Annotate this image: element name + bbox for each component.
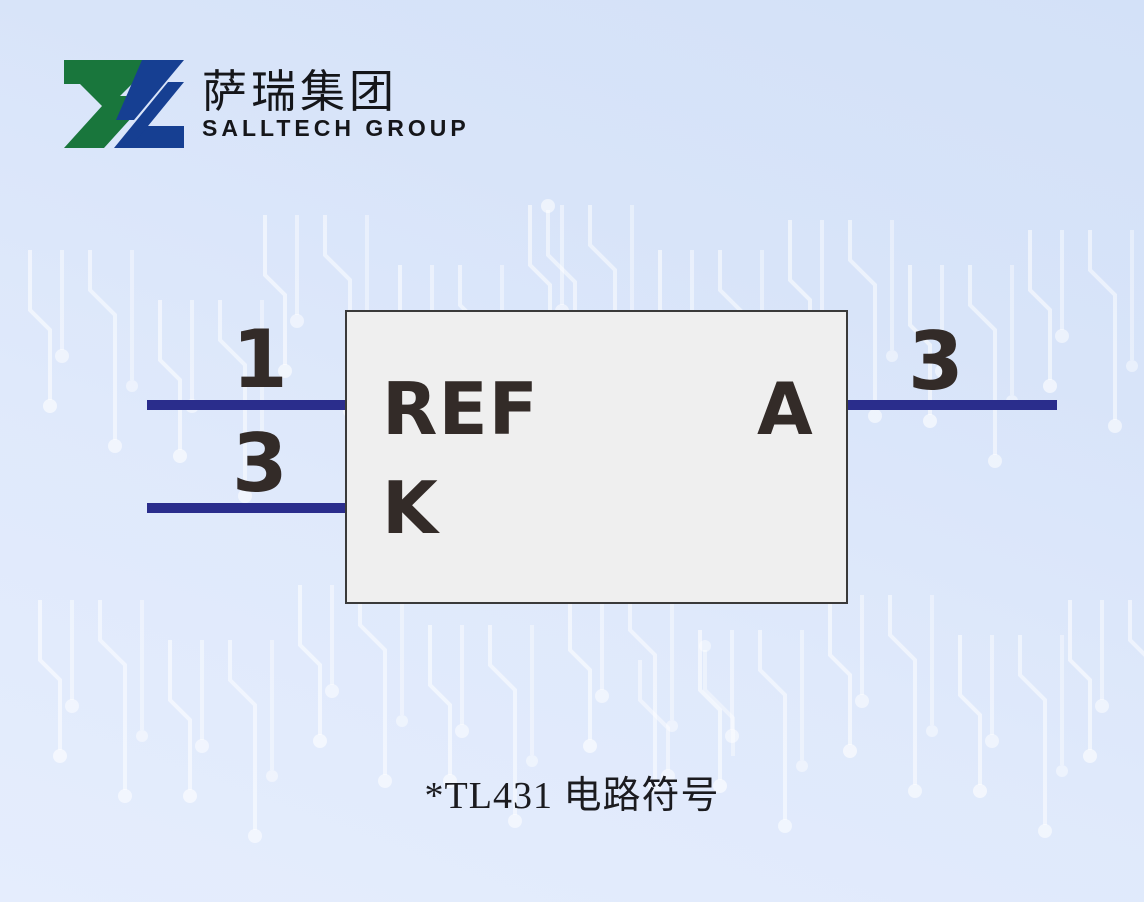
pin-number-top-left: 1	[232, 320, 288, 400]
figure-caption: *TL431 电路符号	[0, 764, 1144, 819]
pin-label-a: A	[757, 373, 813, 445]
slide-canvas: 萨瑞集团 SALLTECH GROUP REF K A 1 3 3 *TL431…	[0, 0, 1144, 902]
pin-label-ref: REF	[382, 373, 539, 445]
component-body-box	[345, 310, 848, 604]
pin-label-k: K	[382, 472, 438, 544]
pin-number-bottom-left: 3	[232, 424, 288, 504]
pin-number-right: 3	[908, 322, 964, 402]
